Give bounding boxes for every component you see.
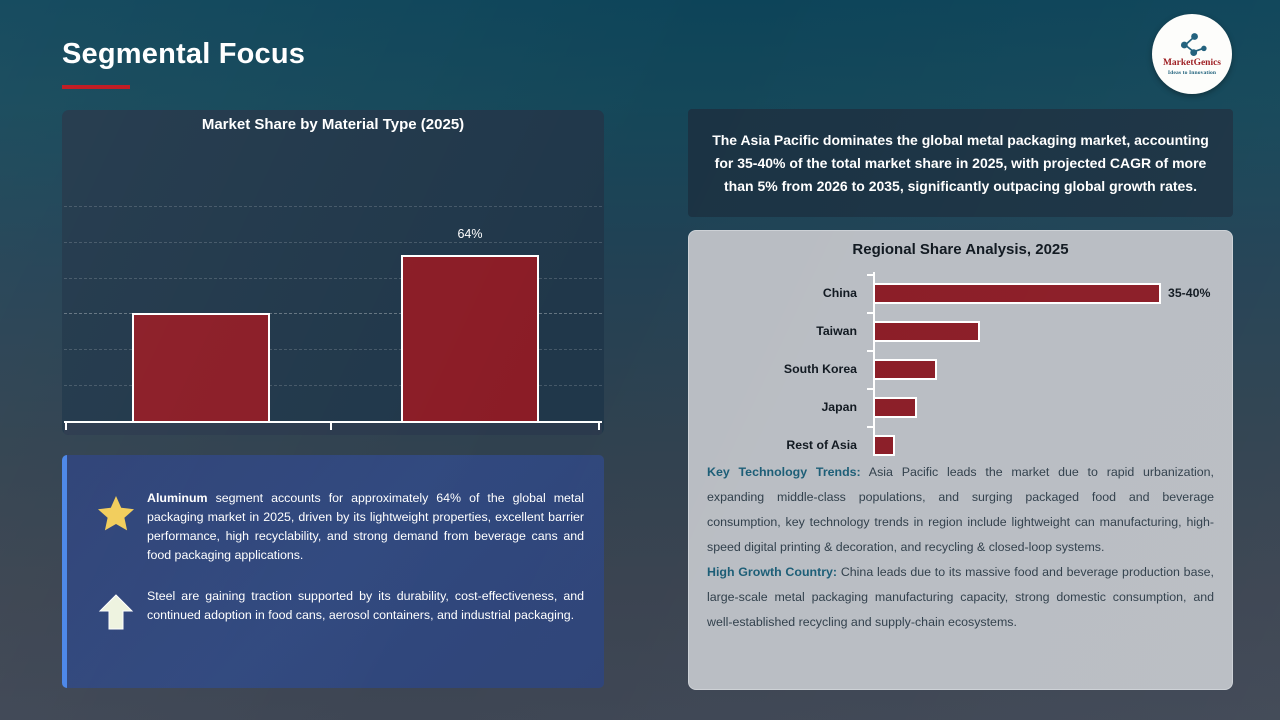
star-icon-wrap <box>85 489 147 531</box>
regional-card-body: Key Technology Trends: Asia Pacific lead… <box>699 454 1222 635</box>
logo-badge: MarketGenics Ideas to Innovation <box>1152 14 1232 94</box>
hbar-rest-of-asia[interactable] <box>873 435 895 456</box>
insight-lead-aluminum: Aluminum <box>147 491 208 505</box>
regional-row-japan: Japan <box>705 388 1216 426</box>
axis-tick <box>65 421 67 430</box>
key-statement-text: The Asia Pacific dominates the global me… <box>702 129 1219 198</box>
insight-body-aluminum: segment accounts for approximately 64% o… <box>147 491 584 562</box>
regional-row-taiwan: Taiwan <box>705 312 1216 350</box>
bars-container <box>62 146 604 421</box>
regional-row-rest-of-asia: Rest of Asia <box>705 426 1216 464</box>
regional-label-rest-of-asia: Rest of Asia <box>705 438 867 452</box>
title-underline-rule <box>62 85 130 89</box>
insight-text-steel: Steel are gaining traction supported by … <box>147 587 592 625</box>
insight-item-aluminum: Aluminum segment accounts for approximat… <box>85 489 592 565</box>
hbar-china[interactable] <box>873 283 1161 304</box>
hbar-value-china: 35-40% <box>1168 286 1210 300</box>
regional-label-china: China <box>705 286 867 300</box>
up-arrow-icon <box>98 593 134 631</box>
regional-label-japan: Japan <box>705 400 867 414</box>
insight-item-steel: Steel are gaining traction supported by … <box>85 587 592 631</box>
regional-label-taiwan: Taiwan <box>705 324 867 338</box>
regional-analysis-card: Regional Share Analysis, 2025 China 35-4… <box>688 230 1233 690</box>
bar-value-aluminum: 64% <box>401 227 539 241</box>
paragraph-high-growth-country: High Growth Country: China leads due to … <box>707 560 1214 635</box>
axis-band <box>64 421 602 435</box>
regional-label-south-korea: South Korea <box>705 362 867 376</box>
material-share-chart-panel: Market Share by Material Type (2025) 64%… <box>62 110 604 435</box>
hbar-taiwan[interactable] <box>873 321 980 342</box>
regional-chart-title: Regional Share Analysis, 2025 <box>699 241 1222 258</box>
hbar-south-korea[interactable] <box>873 359 937 380</box>
axis-tick <box>598 421 600 430</box>
up-arrow-icon-wrap <box>85 587 147 631</box>
paragraph-lead-high-growth-country: High Growth Country: <box>707 565 837 579</box>
plot-area: 64% Steel Aluminum <box>62 146 604 435</box>
insights-box: Aluminum segment accounts for approximat… <box>62 455 604 688</box>
regional-row-china: China 35-40% <box>705 274 1216 312</box>
axis-tick <box>330 421 332 430</box>
bar-steel[interactable] <box>132 313 270 421</box>
star-icon <box>97 495 135 531</box>
chart-title: Market Share by Material Type (2025) <box>62 110 604 133</box>
paragraph-key-technology-trends: Key Technology Trends: Asia Pacific lead… <box>707 460 1214 560</box>
x-axis-line <box>64 421 602 423</box>
logo-name: MarketGenics <box>1163 59 1221 69</box>
paragraph-lead-key-technology-trends: Key Technology Trends: <box>707 465 861 479</box>
hbar-japan[interactable] <box>873 397 917 418</box>
insight-body-steel: Steel are gaining traction supported by … <box>147 589 584 622</box>
insight-text-aluminum: Aluminum segment accounts for approximat… <box>147 489 592 565</box>
key-statement-box: The Asia Pacific dominates the global me… <box>688 109 1233 217</box>
bar-aluminum[interactable] <box>401 255 539 421</box>
page-title: Segmental Focus <box>62 38 305 71</box>
regional-row-south-korea: South Korea <box>705 350 1216 388</box>
logo-tagline: Ideas to Innovation <box>1168 70 1216 76</box>
network-node-logo-icon <box>1175 32 1209 58</box>
regional-bar-chart: China 35-40% Taiwan South Korea Japan Re… <box>705 264 1216 454</box>
